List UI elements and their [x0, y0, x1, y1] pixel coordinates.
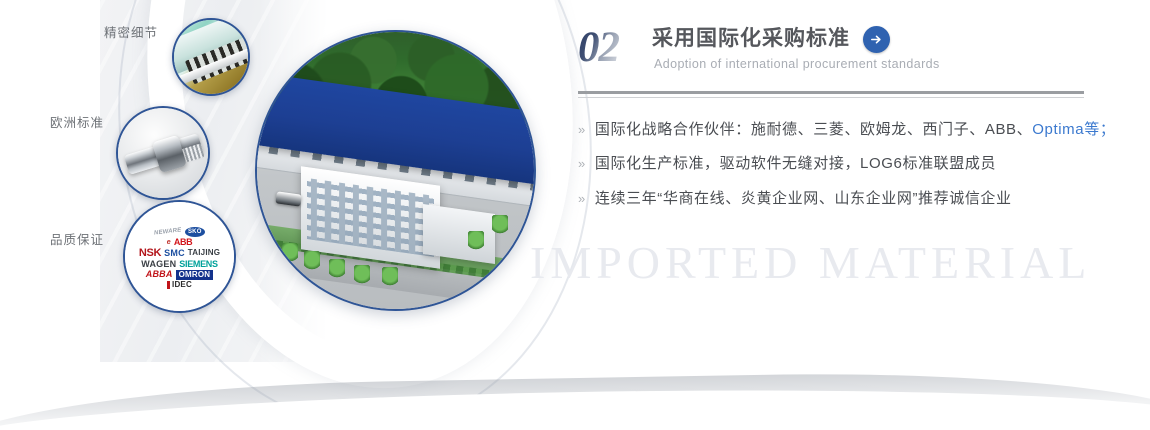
- list-item: » 国际化生产标准，驱动软件无缝对接，LOG6标准联盟成员: [578, 154, 1090, 174]
- brand-row: WAGEN SIEMENS: [130, 260, 229, 269]
- brand-row: NEWARE SKO: [130, 227, 229, 237]
- list-item-text: 国际化生产标准，驱动软件无缝对接，LOG6标准联盟成员: [595, 154, 996, 174]
- photo-tree: [354, 265, 370, 285]
- list-item: » 国际化战略合作伙伴：施耐德、三菱、欧姆龙、西门子、ABB、Optima等；: [578, 120, 1090, 140]
- section-title: 采用国际化采购标准: [652, 24, 850, 54]
- bubble-european-standard: [116, 106, 210, 200]
- brand-logo-sko: SKO: [185, 227, 205, 237]
- brand-row: e ABB: [130, 238, 229, 247]
- brand-logo-omron: OMRON: [176, 270, 214, 280]
- header-divider-thin: [578, 97, 1084, 98]
- section-imported-material: 精密细节 欧洲标准 NEWARE SKO e ABB NSK SMC TAIJI…: [0, 0, 1150, 430]
- photo-tree: [304, 251, 320, 271]
- brand-logo-neware: NEWARE: [154, 227, 182, 236]
- brand-logo-idec: IDEC: [167, 281, 192, 289]
- bubble-precision-detail: [172, 18, 250, 96]
- photo-tree: [382, 267, 398, 287]
- bullet-chevron-icon: »: [578, 155, 586, 173]
- bullet-chevron-icon: »: [578, 190, 586, 208]
- photo-tree: [329, 259, 345, 279]
- section-subtitle: Adoption of international procurement st…: [654, 57, 940, 71]
- brand-logo-smc: SMC: [164, 249, 185, 258]
- header-divider-thick: [578, 91, 1084, 94]
- brand-logo-siemens: SIEMENS: [179, 260, 217, 269]
- section-number: 02: [578, 26, 619, 69]
- photo-tree: [492, 215, 508, 235]
- brand-row: IDEC: [130, 281, 229, 289]
- factory-photo: [257, 32, 534, 309]
- feature-bullet-list: » 国际化战略合作伙伴：施耐德、三菱、欧姆龙、西门子、ABB、Optima等； …: [578, 120, 1090, 209]
- list-item-text: 国际化战略合作伙伴：施耐德、三菱、欧姆龙、西门子、ABB、Optima等；: [595, 120, 1116, 140]
- bullet-chevron-icon: »: [578, 121, 586, 139]
- label-precision-detail: 精密细节: [104, 22, 158, 41]
- brand-logo-ecom: e: [167, 239, 171, 246]
- photo-tree: [468, 231, 484, 251]
- photo-annex-block: [423, 204, 495, 264]
- brand-logo-cloud: NEWARE SKO e ABB NSK SMC TAIJING WAGEN S…: [125, 202, 234, 311]
- brand-logo-abba: ABBA: [146, 270, 173, 279]
- brand-logo-abb: ABB: [174, 238, 192, 247]
- watermark-text: IMPORTED MATERIAL: [530, 236, 1091, 289]
- brand-logo-wagen: WAGEN: [141, 260, 176, 269]
- brand-row: ABBA OMRON: [130, 270, 229, 280]
- list-item-highlight: Optima等；: [1032, 121, 1115, 138]
- list-item-text: 连续三年“华商在线、炎黄企业网、山东企业网”推荐诚信企业: [595, 189, 1012, 209]
- main-factory-photo-circle: [255, 30, 536, 311]
- label-european-standard: 欧洲标准: [50, 112, 104, 131]
- section-header: 02 采用国际化采购标准 Adoption of international p…: [578, 24, 1090, 88]
- label-quality-assurance: 品质保证: [50, 229, 104, 248]
- brand-logo-nsk: NSK: [139, 248, 161, 259]
- photo-tree: [282, 243, 298, 263]
- bubble-quality-assurance: NEWARE SKO e ABB NSK SMC TAIJING WAGEN S…: [123, 200, 236, 313]
- brand-logo-taijing: TAIJING: [188, 249, 220, 257]
- arrow-right-circle-icon[interactable]: [863, 26, 890, 53]
- list-item: » 连续三年“华商在线、炎黄企业网、山东企业网”推荐诚信企业: [578, 189, 1090, 209]
- brand-row: NSK SMC TAIJING: [130, 248, 229, 259]
- right-content-column: 02 采用国际化采购标准 Adoption of international p…: [578, 24, 1090, 223]
